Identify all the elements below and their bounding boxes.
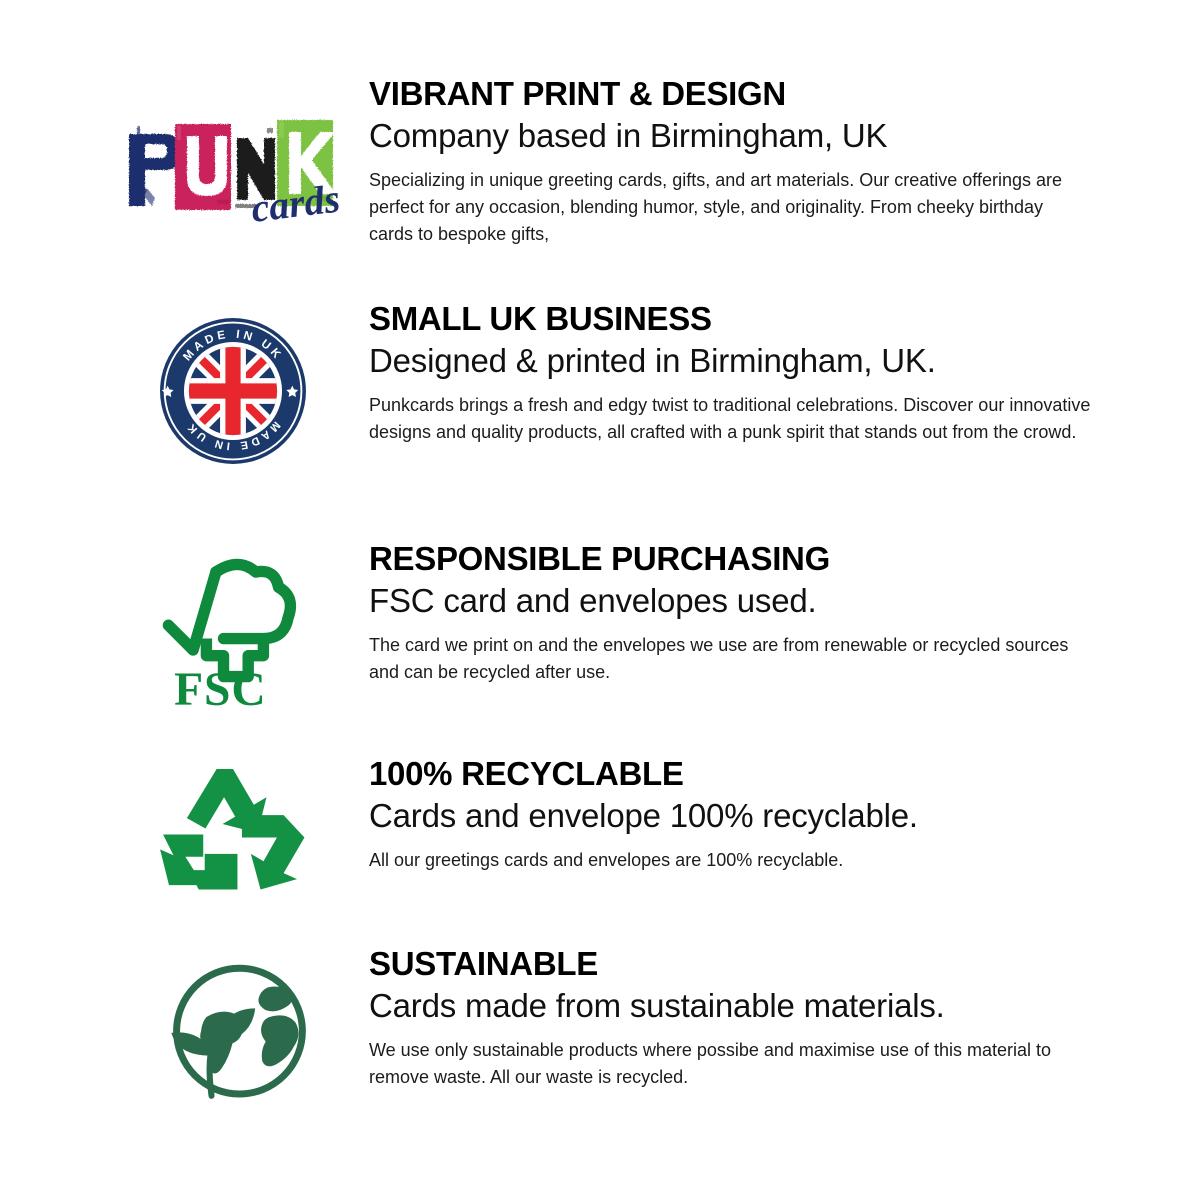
feature-subtitle: Designed & printed in Birmingham, UK. [369,340,1100,382]
feature-body: Punkcards brings a fresh and edgy twist … [369,392,1091,447]
feature-body: The card we print on and the envelopes w… [369,632,1091,687]
feature-body: We use only sustainable products where p… [369,1037,1091,1092]
icon-cell-fsc: FSC [100,541,365,709]
recycle-symbol-icon [158,766,308,894]
fsc-logo-icon: FSC [157,551,309,709]
text-cell-vibrant-print-design: VIBRANT PRINT & DESIGN Company based in … [365,56,1100,249]
text-cell-sustainable: SUSTAINABLE Cards made from sustainable … [365,946,1100,1091]
globe-continents [200,986,298,1073]
feature-subtitle: Cards and envelope 100% recyclable. [369,795,1100,837]
text-cell-small-uk-business: SMALL UK BUSINESS Designed & printed in … [365,301,1100,446]
feature-row-100-recyclable: 100% RECYCLABLE Cards and envelope 100% … [100,756,1100,946]
feature-title: 100% RECYCLABLE [369,756,1100,793]
text-cell-100-recyclable: 100% RECYCLABLE Cards and envelope 100% … [365,756,1100,874]
svg-text:cards: cards [248,175,342,230]
logo-script-cards: cards [248,175,342,230]
text-cell-responsible-purchasing: RESPONSIBLE PURCHASING FSC card and enve… [365,541,1100,686]
feature-title: SUSTAINABLE [369,946,1100,983]
made-in-uk-badge-icon: MADE IN UK MADE IN UK [157,315,309,467]
feature-subtitle: FSC card and envelopes used. [369,580,1100,622]
feature-row-sustainable: SUSTAINABLE Cards made from sustainable … [100,946,1100,1146]
feature-row-responsible-purchasing: FSC RESPONSIBLE PURCHASING FSC card and … [100,541,1100,756]
feature-title: VIBRANT PRINT & DESIGN [369,76,1100,113]
punkcards-logo: cards [117,114,349,230]
features-page: cards VIBRANT PRINT & DESIGN Company bas… [0,0,1200,1200]
fsc-wordmark: FSC [174,664,267,709]
logo-letter-u [175,124,231,210]
icon-cell-recycle [100,756,365,894]
feature-title: SMALL UK BUSINESS [369,301,1100,338]
fsc-tree-check [168,564,290,650]
globe-plant-icon [145,956,320,1101]
logo-letter-p [123,126,179,210]
feature-body: Specializing in unique greeting cards, g… [369,167,1091,249]
icon-cell-made-in-uk: MADE IN UK MADE IN UK [100,301,365,467]
feature-row-small-uk-business: MADE IN UK MADE IN UK SMALL UK BUSINESS … [100,301,1100,541]
feature-row-vibrant-print-design: cards VIBRANT PRINT & DESIGN Company bas… [100,56,1100,301]
feature-body: All our greetings cards and envelopes ar… [369,847,1091,874]
recycle-arrows [160,769,304,890]
feature-subtitle: Company based in Birmingham, UK [369,115,1100,157]
feature-subtitle: Cards made from sustainable materials. [369,985,1100,1027]
icon-cell-punkcards-logo: cards [100,56,365,230]
feature-title: RESPONSIBLE PURCHASING [369,541,1100,578]
icon-cell-globe-plant [100,946,365,1101]
